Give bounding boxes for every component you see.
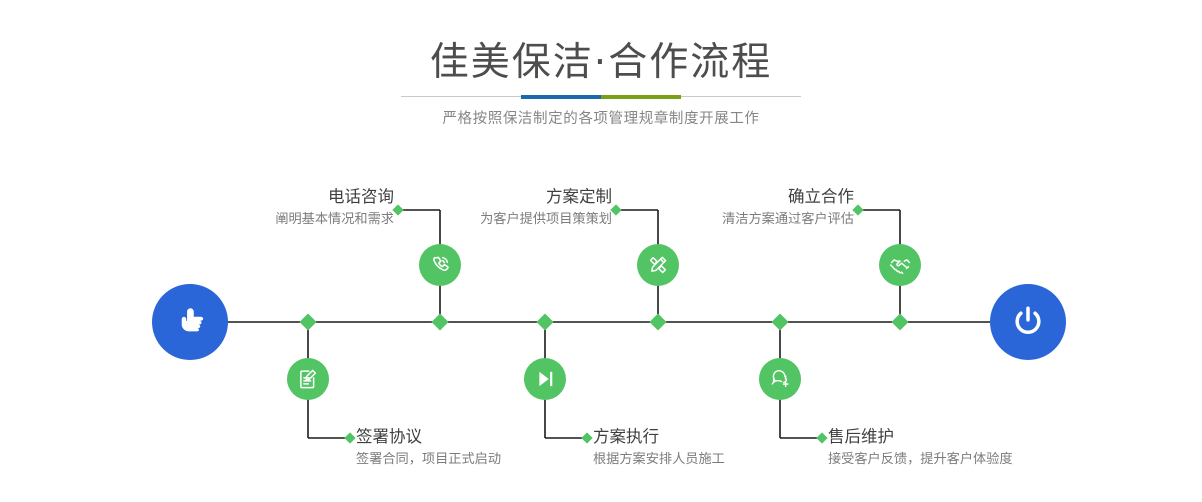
- flow-start-marker: [152, 284, 228, 360]
- title-divider: [401, 95, 801, 99]
- divider-segment-green: [601, 95, 681, 99]
- divider-line-right: [681, 96, 801, 97]
- step-node-2: [287, 358, 329, 400]
- headset-support-icon: [768, 367, 792, 391]
- divider-line-left: [401, 96, 521, 97]
- step-node-1: [419, 244, 461, 286]
- step-title: 售后维护: [828, 426, 1158, 448]
- step-label-6: 售后维护 接受客户反馈，提升客户体验度: [828, 426, 1158, 470]
- flow-end-marker: [990, 284, 1066, 360]
- pointing-hand-icon: [170, 302, 210, 342]
- page-title: 佳美保洁·合作流程: [0, 38, 1202, 88]
- document-edit-icon: [296, 367, 320, 391]
- power-icon: [1008, 302, 1048, 342]
- page-subtitle: 严格按照保洁制定的各项管理规章制度开展工作: [0, 108, 1202, 130]
- step-title: 确立合作: [558, 186, 854, 208]
- step-label-5: 确立合作 清洁方案通过客户评估: [558, 186, 854, 230]
- handshake-icon: [888, 253, 913, 278]
- step-node-5: [879, 244, 921, 286]
- pencil-ruler-icon: [646, 253, 670, 277]
- divider-segment-blue: [521, 95, 601, 99]
- timeline-diagram: 电话咨询 阐明基本情况和需求 方案定制 为客户提供项目策策划 确立合作 清洁方案…: [0, 150, 1202, 502]
- process-flow-infographic: 佳美保洁·合作流程 严格按照保洁制定的各项管理规章制度开展工作: [0, 0, 1202, 502]
- step-node-6: [759, 358, 801, 400]
- play-skip-icon: [533, 367, 557, 391]
- step-node-4: [524, 358, 566, 400]
- step-desc: 清洁方案通过客户评估: [558, 210, 854, 230]
- step-node-3: [637, 244, 679, 286]
- step-desc: 接受客户反馈，提升客户体验度: [828, 450, 1158, 470]
- phone-call-icon: [428, 253, 452, 277]
